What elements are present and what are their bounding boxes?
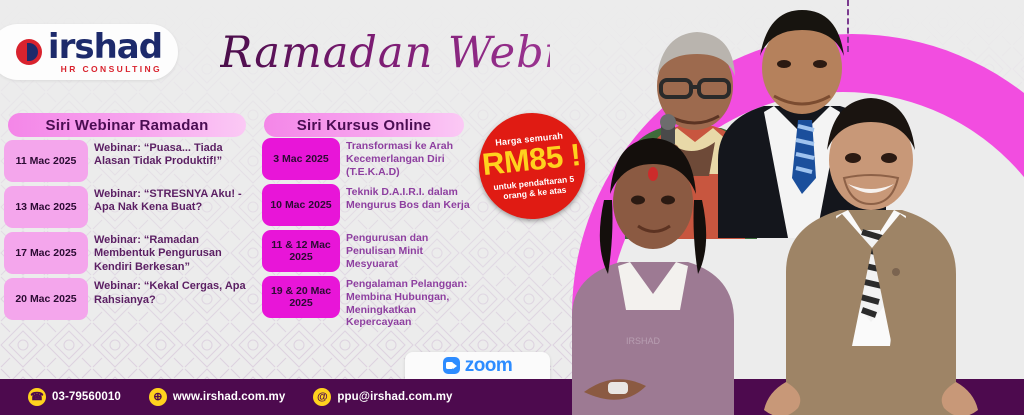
schedule-row: 19 & 20 Mac 2025 Pengalaman Pelanggan: M…	[262, 276, 472, 329]
schedule-title: Pengalaman Pelanggan: Membina Hubungan, …	[346, 276, 472, 329]
schedule-date: 19 & 20 Mac 2025	[262, 276, 340, 318]
zoom-brand-label: zoom	[465, 355, 513, 377]
speaker-woman: IRSHAD	[568, 130, 738, 415]
email-address: ppu@irshad.com.my	[337, 391, 452, 403]
schedule-row: 11 & 12 Mac 2025 Pengurusan dan Penulisa…	[262, 230, 472, 272]
schedule-row: 13 Mac 2025 Webinar: “STRESNYA Aku! - Ap…	[4, 186, 254, 228]
schedule-row: 20 Mac 2025 Webinar: “Kekal Cergas, Apa …	[4, 278, 254, 320]
ramadan-webinar-banner: IRSHAD irshad HR CONSULTING Rama	[0, 0, 1024, 415]
speaker-man-tan-suit	[756, 96, 986, 415]
column-header-kursus: Siri Kursus Online	[264, 113, 464, 137]
schedule-row: 17 Mac 2025 Webinar: “Ramadan Membentuk …	[4, 232, 254, 274]
schedule-title: Webinar: “Puasa... Tiada Alasan Tidak Pr…	[94, 140, 254, 169]
globe-icon: ⊕	[149, 388, 167, 406]
at-icon: @	[313, 388, 331, 406]
phone-icon: ☎	[28, 388, 46, 406]
schedule-row: 3 Mac 2025 Transformasi ke Arah Kecemerl…	[262, 138, 472, 180]
contact-phone[interactable]: ☎ 03-79560010	[28, 388, 121, 406]
column-header-webinar: Siri Webinar Ramadan	[8, 113, 246, 137]
brand-name: irshad	[48, 30, 162, 64]
schedule-date: 3 Mac 2025	[262, 138, 340, 180]
page-title: Ramadan Webinar	[220, 22, 550, 84]
schedule-title: Teknik D.A.I.R.I. dalam Mengurus Bos dan…	[346, 184, 472, 212]
schedule-title: Webinar: “STRESNYA Aku! - Apa Nak Kena B…	[94, 186, 254, 215]
schedule-title: Webinar: “Kekal Cergas, Apa Rahsianya?	[94, 278, 254, 307]
schedule-title: Pengurusan dan Penulisan Minit Mesyuarat	[346, 230, 472, 270]
brand-tagline: HR CONSULTING	[48, 65, 162, 74]
schedule-row: 11 Mac 2025 Webinar: “Puasa... Tiada Ala…	[4, 140, 254, 182]
schedule-title: Webinar: “Ramadan Membentuk Pengurusan K…	[94, 232, 254, 274]
website-url: www.irshad.com.my	[173, 391, 285, 403]
schedule-date: 20 Mac 2025	[4, 278, 88, 320]
webinar-schedule-list: 11 Mac 2025 Webinar: “Puasa... Tiada Ala…	[4, 140, 254, 324]
schedule-date: 17 Mac 2025	[4, 232, 88, 274]
phone-number: 03-79560010	[52, 391, 121, 403]
zoom-camera-icon	[443, 357, 460, 374]
schedule-date: 11 & 12 Mac 2025	[262, 230, 340, 272]
svg-text:IRSHAD: IRSHAD	[626, 336, 661, 346]
schedule-date: 13 Mac 2025	[4, 186, 88, 228]
contact-website[interactable]: ⊕ www.irshad.com.my	[149, 388, 285, 406]
kursus-schedule-list: 3 Mac 2025 Transformasi ke Arah Kecemerl…	[262, 138, 472, 333]
schedule-date: 11 Mac 2025	[4, 140, 88, 182]
contact-email[interactable]: @ ppu@irshad.com.my	[313, 388, 452, 406]
schedule-date: 10 Mac 2025	[262, 184, 340, 226]
irshad-logo: irshad HR CONSULTING	[0, 24, 178, 80]
schedule-title: Transformasi ke Arah Kecemerlangan Diri …	[346, 138, 472, 178]
schedule-row: 10 Mac 2025 Teknik D.A.I.R.I. dalam Meng…	[262, 184, 472, 226]
irshad-logo-mark	[16, 39, 42, 65]
